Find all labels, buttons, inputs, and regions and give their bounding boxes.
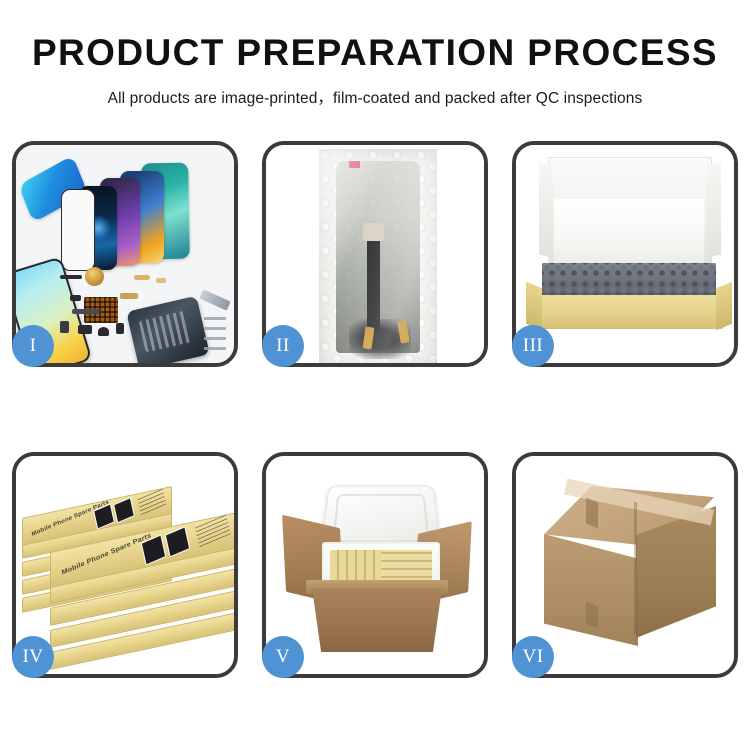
- step-2-image: [266, 145, 484, 363]
- step-badge-4: IV: [12, 636, 54, 678]
- screws-icon: [204, 317, 226, 357]
- part-chip-icon: [60, 321, 69, 333]
- part-flex-cable-icon: [120, 293, 138, 299]
- process-step-panel-6[interactable]: VI: [512, 452, 738, 678]
- step-badge-1: I: [12, 325, 54, 367]
- page-header: PRODUCT PREPARATION PROCESS All products…: [0, 0, 750, 108]
- packed-items-icon: [542, 263, 716, 299]
- page-subtitle: All products are image-printed，film-coat…: [0, 86, 750, 108]
- process-step-panel-4[interactable]: Mobile Phone Spare Parts Mobile Phone Sp…: [12, 452, 238, 678]
- box-art-thumbnail: [165, 526, 191, 557]
- carton-edge: [634, 502, 637, 634]
- tweezer-icon: [199, 289, 230, 310]
- step-5-image: [266, 456, 484, 674]
- box-spec-lines: [137, 488, 166, 516]
- step-badge-5: V: [262, 636, 304, 678]
- copper-coil-icon: [85, 267, 104, 286]
- process-step-grid: I II III: [12, 141, 738, 678]
- phone-white-frame-icon: [61, 189, 95, 271]
- step-1-image: [16, 145, 234, 363]
- carton-body-icon: [312, 588, 442, 652]
- process-step-panel-5[interactable]: V: [262, 452, 488, 678]
- carton-left-face-icon: [544, 534, 638, 646]
- box-spec-lines: [195, 514, 231, 548]
- phone-back-cover-icon: [126, 296, 210, 363]
- process-step-panel-1[interactable]: I: [12, 141, 238, 367]
- step-badge-3: III: [512, 325, 554, 367]
- process-step-panel-3[interactable]: III: [512, 141, 738, 367]
- part-chip-icon: [116, 323, 124, 334]
- flex-cable-icon: [367, 237, 380, 333]
- part-flex-cable-icon: [156, 278, 166, 283]
- process-step-panel-2[interactable]: II: [262, 141, 488, 367]
- gold-boxes-row-icon: [381, 550, 432, 584]
- box-art-thumbnail: [113, 497, 135, 523]
- part-chip-icon: [60, 275, 82, 279]
- part-chip-icon: [98, 327, 109, 336]
- page-title: PRODUCT PREPARATION PROCESS: [0, 33, 750, 74]
- step-3-image: [516, 145, 734, 363]
- pink-label-icon: [349, 161, 360, 168]
- part-chip-icon: [70, 295, 81, 301]
- box-stack: Mobile Phone Spare Parts Mobile Phone Sp…: [20, 474, 234, 674]
- foam-sheet-icon: [554, 199, 704, 265]
- carton-seam: [586, 602, 598, 629]
- gold-box-front-icon: [534, 295, 724, 329]
- step-6-image: [516, 456, 734, 674]
- carton-seam: [586, 498, 598, 529]
- step-badge-6: VI: [512, 636, 554, 678]
- step-badge-2: II: [262, 325, 304, 367]
- part-flex-cable-icon: [134, 275, 150, 280]
- part-chip-icon: [72, 309, 100, 314]
- part-chip-icon: [78, 325, 92, 334]
- bubble-wrap-bag-icon: [319, 149, 437, 363]
- step-4-image: Mobile Phone Spare Parts Mobile Phone Sp…: [16, 456, 234, 674]
